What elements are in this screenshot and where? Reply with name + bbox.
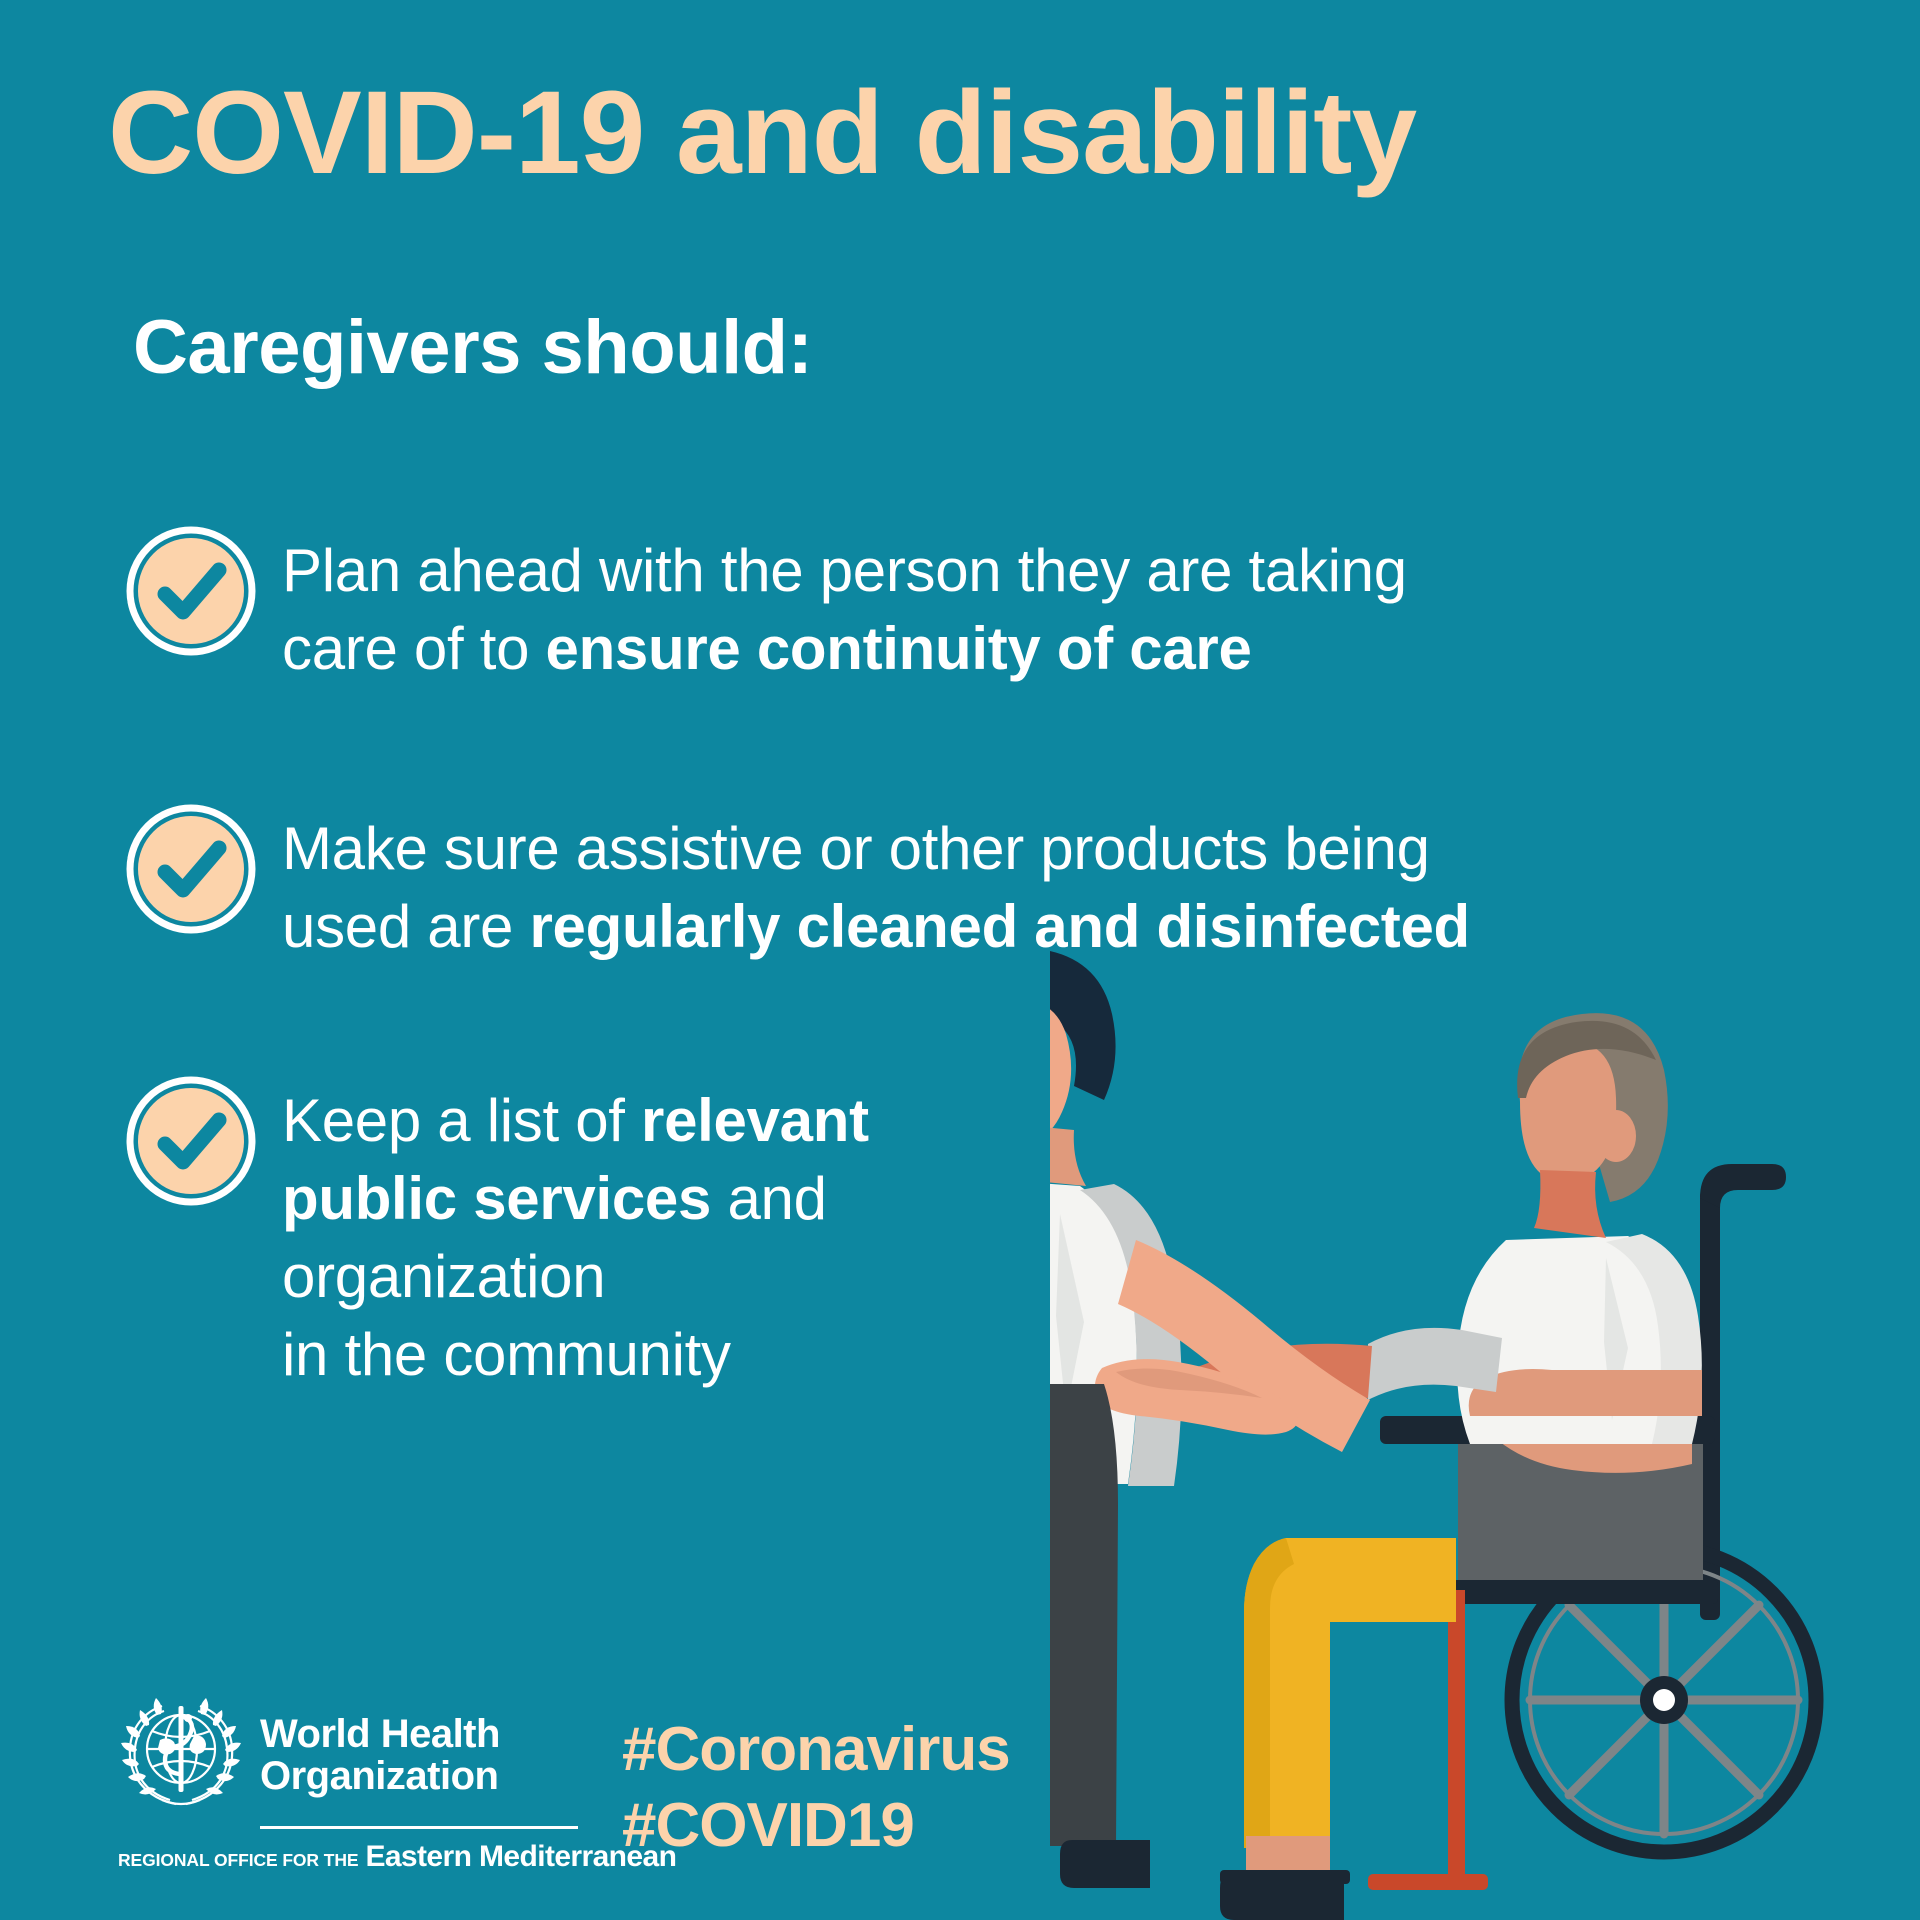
who-emblem-icon xyxy=(118,1692,244,1818)
bullet-3-line-3-seg-1: organization xyxy=(282,1243,605,1310)
hashtag-covid19: #COVID19 xyxy=(622,1788,1010,1864)
bullet-3-line-2-seg-2: and xyxy=(711,1165,827,1232)
bullet-3-line-1-seg-2: relevant xyxy=(641,1087,869,1154)
check-circle-icon xyxy=(124,524,258,658)
hashtag-coronavirus: #Coronavirus xyxy=(622,1712,1010,1788)
who-logo-line-2: Organization xyxy=(260,1754,498,1798)
bullet-item-3: Keep a list of relevant public services … xyxy=(124,1072,1024,1394)
who-regional-office: REGIONAL OFFICE FOR THE Eastern Mediterr… xyxy=(118,1840,578,1874)
check-circle-icon xyxy=(124,802,258,936)
bullet-1-line-1-seg-1: Plan ahead with the person they are taki… xyxy=(282,537,1407,604)
who-logo: World Health Organization REGIONAL OFFIC… xyxy=(118,1692,578,1874)
bullet-text-3: Keep a list of relevant public services … xyxy=(282,1072,869,1394)
page-title: COVID-19 and disability xyxy=(108,74,1868,192)
regional-office-prefix: REGIONAL OFFICE FOR THE xyxy=(118,1850,358,1871)
who-logo-top-row: World Health Organization xyxy=(118,1692,578,1818)
bullet-3-line-2-seg-1: public services xyxy=(282,1165,711,1232)
check-circle-icon xyxy=(124,1074,258,1208)
infographic-poster: COVID-19 and disability Caregivers shoul… xyxy=(0,0,1920,1920)
who-logo-wordmark: World Health Organization xyxy=(260,1713,500,1798)
who-logo-divider xyxy=(260,1826,578,1829)
bullet-3-line-1-seg-1: Keep a list of xyxy=(282,1087,641,1154)
bullet-text-1: Plan ahead with the person they are taki… xyxy=(282,522,1407,688)
section-subtitle: Caregivers should: xyxy=(133,310,812,386)
bullet-3-line-4-seg-1: in the community xyxy=(282,1321,731,1388)
bullet-2-line-2-seg-1: used are xyxy=(282,893,529,960)
caregiver-and-wheelchair-user-illustration xyxy=(1050,940,1920,1920)
bullet-1-line-2-seg-2: ensure continuity of care xyxy=(546,615,1252,682)
who-logo-line-1: World Health xyxy=(260,1712,500,1756)
bullet-2-line-1-seg-1: Make sure assistive or other products be… xyxy=(282,815,1430,882)
bullet-item-1: Plan ahead with the person they are taki… xyxy=(124,522,1744,688)
hashtags-block: #Coronavirus #COVID19 xyxy=(622,1712,1010,1863)
bullet-1-line-2-seg-1: care of to xyxy=(282,615,546,682)
